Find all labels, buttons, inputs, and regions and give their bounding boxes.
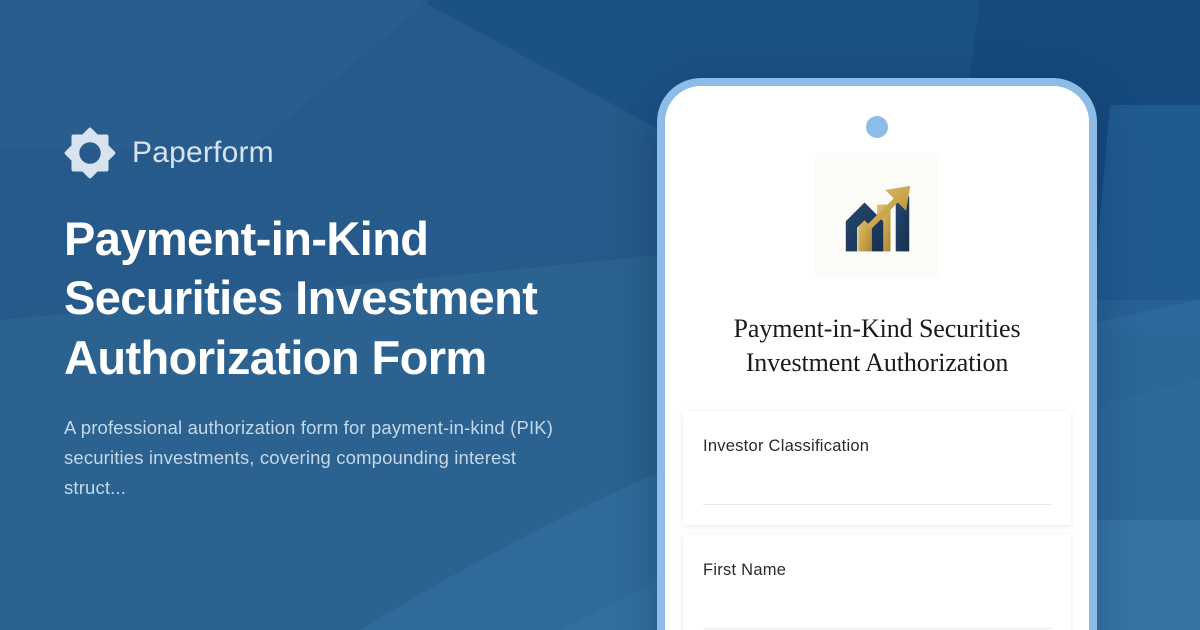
camera-dot-icon <box>866 116 888 138</box>
field-label: First Name <box>703 561 1051 581</box>
paperform-logo-icon <box>64 127 116 179</box>
phone-screen: Payment-in-Kind Securities Investment Au… <box>665 86 1089 630</box>
field-label: Investor Classification <box>703 437 1051 457</box>
form-header-image <box>815 153 939 277</box>
phone-mockup: Payment-in-Kind Securities Investment Au… <box>657 78 1097 630</box>
page-description: A professional authorization form for pa… <box>64 413 574 503</box>
field-input-underline[interactable] <box>703 504 1051 505</box>
page-title: Payment-in-Kind Securities Investment Au… <box>64 209 604 387</box>
brand: Paperform <box>64 127 624 179</box>
bg-facet-right-mid <box>1080 330 1200 520</box>
brand-name: Paperform <box>132 138 274 168</box>
form-title: Payment-in-Kind Securities Investment Au… <box>689 312 1065 381</box>
form-field-first-name[interactable]: First Name <box>683 535 1071 630</box>
form-field-investor-classification[interactable]: Investor Classification <box>683 411 1071 525</box>
growth-chart-icon <box>825 163 929 267</box>
field-spacer <box>683 525 1071 535</box>
field-input-underline[interactable] <box>703 628 1051 629</box>
hero-panel: Paperform Payment-in-Kind Securities Inv… <box>64 0 624 630</box>
form-fields: Investor Classification First Name <box>665 411 1089 630</box>
